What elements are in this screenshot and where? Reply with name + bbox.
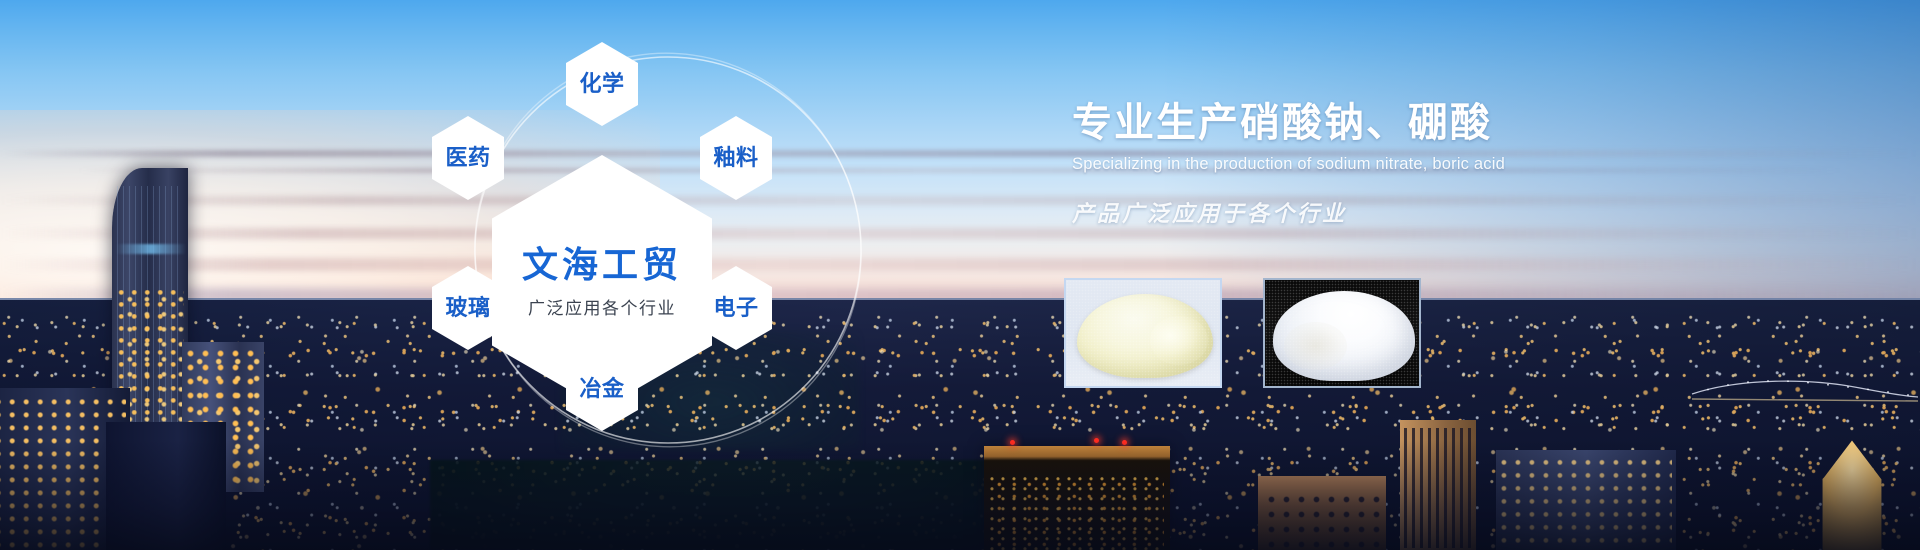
product-photo-sodium-nitrate[interactable] xyxy=(1064,278,1222,388)
product-photo-boric-acid[interactable] xyxy=(1263,278,1421,388)
hexagon-label: 釉料 xyxy=(713,147,758,169)
hero-banner: 文海工贸 广泛应用各个行业 化学 釉料 电子 冶金 玻璃 医药 专业生产硝酸钠、… xyxy=(0,0,1920,550)
headline: 专业生产硝酸钠、硼酸 xyxy=(1072,100,1832,146)
hexagon-label: 冶金 xyxy=(579,378,624,400)
hexagon-label: 化学 xyxy=(579,73,624,95)
headline-block: 专业生产硝酸钠、硼酸 Specializing in the productio… xyxy=(1072,100,1832,228)
brand-subtitle: 广泛应用各个行业 xyxy=(528,294,676,319)
industry-hex-diagram: 文海工贸 广泛应用各个行业 化学 釉料 电子 冶金 玻璃 医药 xyxy=(400,0,1060,550)
powder-grain-texture xyxy=(1066,280,1220,386)
hexagon-label: 电子 xyxy=(713,297,758,319)
sub-headline: Specializing in the production of sodium… xyxy=(1072,155,1832,174)
tagline: 产品广泛应用于各个行业 xyxy=(1072,196,1832,228)
brand-name: 文海工贸 xyxy=(522,245,682,285)
tower-blue-light-band xyxy=(116,244,186,254)
suspension-bridge xyxy=(1690,376,1920,402)
hexagon-label: 玻璃 xyxy=(445,297,490,319)
hexagon-label: 医药 xyxy=(445,147,490,169)
product-photo-row xyxy=(1064,278,1421,388)
powder-grain-texture xyxy=(1265,280,1419,386)
